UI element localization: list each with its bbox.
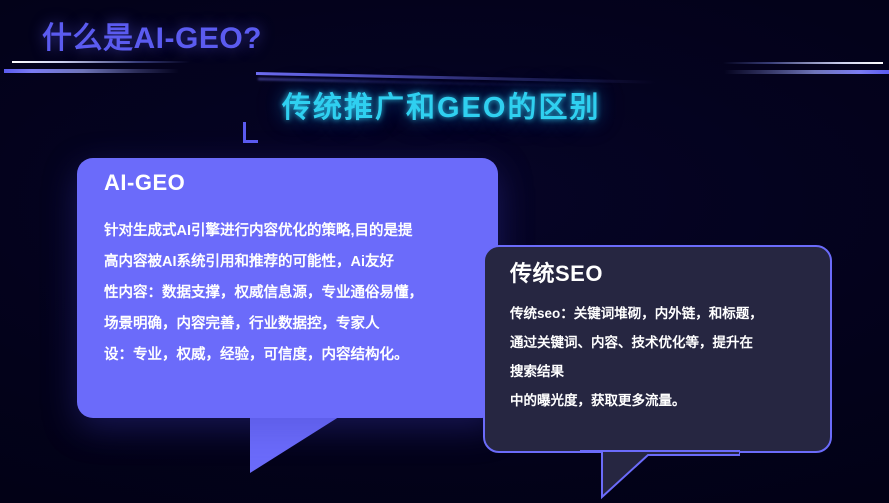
traditional-seo-tail-shape bbox=[580, 449, 740, 501]
ai-geo-line: 高内容被AI系统引用和推荐的可能性，Ai友好 bbox=[104, 247, 480, 278]
ai-geo-line: 设：专业，权威，经验，可信度，内容结构化。 bbox=[104, 340, 480, 371]
header-line-thick-right bbox=[724, 70, 889, 74]
header-line-thin-right bbox=[723, 62, 883, 64]
ai-geo-card-tail bbox=[250, 415, 342, 473]
traditional-seo-card[interactable]: 传统SEO 传统seo：关键词堆砌，内外链，和标题， 通过关键词、内容、技术优化… bbox=[483, 245, 832, 453]
ai-geo-card-title: AI-GEO bbox=[104, 170, 185, 196]
traditional-seo-line: 搜索结果 bbox=[510, 357, 816, 386]
traditional-seo-line: 中的曝光度，获取更多流量。 bbox=[510, 386, 816, 415]
header-line-thin-left bbox=[12, 61, 190, 63]
traditional-seo-card-body: 传统seo：关键词堆砌，内外链，和标题， 通过关键词、内容、技术优化等，提升在 … bbox=[510, 299, 816, 415]
section-subtitle: 传统推广和GEO的区别 bbox=[282, 84, 600, 126]
page-title: 什么是AI-GEO? bbox=[42, 13, 262, 57]
traditional-seo-line: 传统seo：关键词堆砌，内外链，和标题， bbox=[510, 299, 816, 328]
ai-geo-card-body: 针对生成式AI引擎进行内容优化的策略,目的是提 高内容被AI系统引用和推荐的可能… bbox=[104, 216, 480, 371]
ai-geo-card[interactable]: AI-GEO 针对生成式AI引擎进行内容优化的策略,目的是提 高内容被AI系统引… bbox=[77, 158, 498, 418]
ai-geo-line: 场景明确，内容完善，行业数据控，专家人 bbox=[104, 309, 480, 340]
ai-geo-line: 针对生成式AI引擎进行内容优化的策略,目的是提 bbox=[104, 216, 480, 247]
traditional-seo-card-title: 传统SEO bbox=[510, 256, 603, 288]
corner-bracket-mark bbox=[243, 122, 258, 143]
traditional-seo-card-tail bbox=[580, 449, 740, 501]
traditional-seo-line: 通过关键词、内容、技术优化等，提升在 bbox=[510, 328, 816, 357]
slide-canvas: 什么是AI-GEO? 传统推广和GEO的区别 AI-GEO 针对生成式AI引擎进… bbox=[0, 0, 889, 503]
header-line-thick-left bbox=[4, 69, 179, 73]
ai-geo-line: 性内容：数据支撑，权威信息源，专业通俗易懂， bbox=[104, 278, 480, 309]
